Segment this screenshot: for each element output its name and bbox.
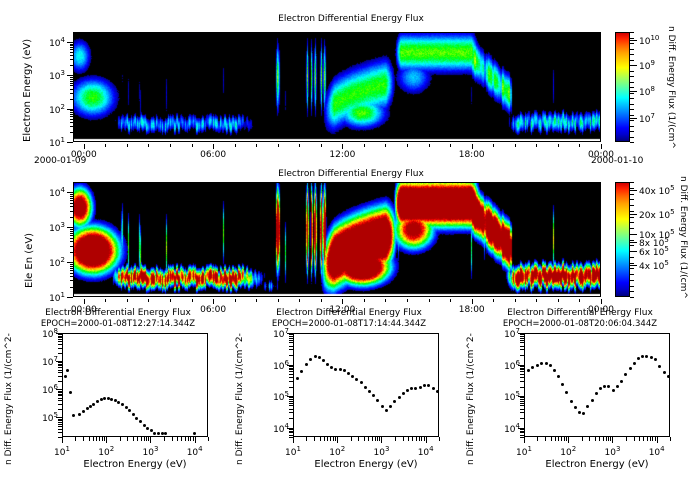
data-point xyxy=(86,407,89,410)
xtick-label: 103 xyxy=(596,445,628,458)
bottom-panel-plot[interactable] xyxy=(293,333,439,437)
middle-panel-yaxis: 101102103104 xyxy=(40,182,73,297)
colorbar-tick-label: 6x 105 xyxy=(639,245,669,258)
data-point xyxy=(334,368,337,371)
top-panel-yaxis: 101102103104 xyxy=(40,32,73,142)
xtick xyxy=(337,437,338,443)
ytick-label: 104 xyxy=(484,422,520,435)
xtick-label: 101 xyxy=(508,445,540,458)
data-point xyxy=(410,387,413,390)
spectrogram-ytick-label: 103 xyxy=(49,221,65,234)
data-point xyxy=(540,362,543,365)
xtick-label: 101 xyxy=(46,445,78,458)
data-point xyxy=(561,383,564,386)
spectrogram-ytick-label: 104 xyxy=(49,186,65,199)
xtick-label: 103 xyxy=(134,445,166,458)
xtick xyxy=(524,437,525,443)
data-point xyxy=(355,378,358,381)
ytick-label: 105 xyxy=(253,390,289,403)
middle-panel-ylabel: Ele En (eV) xyxy=(24,233,35,288)
data-point xyxy=(553,369,556,372)
bottom-panel-ylabel: n Diff. Energy Flux (1/(cm^2- xyxy=(466,333,476,465)
colorbar-tick xyxy=(630,40,637,41)
data-point xyxy=(125,406,128,409)
data-point xyxy=(193,432,196,435)
data-point xyxy=(121,403,124,406)
data-point xyxy=(578,411,581,414)
data-point xyxy=(531,366,534,369)
xtick xyxy=(381,437,382,443)
data-point xyxy=(436,390,439,393)
data-point xyxy=(64,375,67,378)
data-point xyxy=(591,399,594,402)
ytick-label: 107 xyxy=(484,327,520,340)
top-panel-title: Electron Differential Energy Flux xyxy=(186,14,516,24)
data-point xyxy=(96,400,99,403)
data-point xyxy=(595,392,598,395)
colorbar-tick xyxy=(630,190,637,191)
data-point xyxy=(339,368,342,371)
data-point xyxy=(360,381,363,384)
ytick-label: 105 xyxy=(22,411,58,424)
data-point xyxy=(150,429,153,432)
bottom-panel-ylabel: n Diff. Energy Flux (1/(cm^2- xyxy=(4,333,14,465)
xtick xyxy=(426,437,427,443)
spectrogram-xtick-label: 18:00 xyxy=(456,150,488,160)
data-point xyxy=(599,387,602,390)
xtick xyxy=(612,437,613,443)
top-colorbar-label-wrap: n Diff. Energy Flux (1/(cm^ xyxy=(676,26,697,36)
bottom-panel-title: Electron Differential Energy Flux xyxy=(6,308,230,318)
top-panel: Electron Differential Energy Flux Electr… xyxy=(0,0,697,160)
spectrogram-canvas xyxy=(74,33,600,141)
ytick-label: 106 xyxy=(22,383,58,396)
data-point xyxy=(305,363,308,366)
top-colorbar-ticks: 1071081091010 xyxy=(630,32,670,142)
data-point xyxy=(135,417,138,420)
data-point xyxy=(100,398,103,401)
data-point xyxy=(557,375,560,378)
data-point xyxy=(603,385,606,388)
xtick-label: 103 xyxy=(365,445,397,458)
colorbar-tick-label: 40x 105 xyxy=(639,184,675,197)
colorbar-tick-label: 109 xyxy=(639,59,655,72)
xtick-label: 102 xyxy=(321,445,353,458)
ytick-label: 105 xyxy=(484,390,520,403)
data-point xyxy=(314,355,317,358)
data-point xyxy=(650,356,653,359)
xtick xyxy=(195,437,196,443)
data-point xyxy=(620,380,623,383)
ytick-label: 108 xyxy=(22,327,58,340)
bottom-panel-title: Electron Differential Energy Flux xyxy=(237,308,461,318)
xtick-label: 102 xyxy=(90,445,122,458)
middle-colorbar-label-wrap: n Diff. Energy Flux (1/(cm^ xyxy=(688,176,697,186)
data-point xyxy=(427,384,430,387)
data-point xyxy=(318,356,321,359)
data-point xyxy=(565,391,568,394)
data-point xyxy=(607,385,610,388)
spectrogram-ytick-label: 102 xyxy=(49,256,65,269)
data-point xyxy=(143,424,146,427)
data-point xyxy=(146,427,149,430)
data-point xyxy=(633,362,636,365)
ytick-label: 106 xyxy=(484,359,520,372)
xtick-label: 104 xyxy=(179,445,211,458)
data-point xyxy=(406,389,409,392)
ytick-label: 107 xyxy=(22,355,58,368)
colorbar-tick-label: 1010 xyxy=(639,34,659,47)
colorbar-tick-label: 4x 105 xyxy=(639,259,669,272)
data-point xyxy=(164,432,167,435)
data-point xyxy=(343,369,346,372)
colorbar-tick xyxy=(630,242,637,243)
data-point xyxy=(351,375,354,378)
data-point xyxy=(612,389,615,392)
data-point xyxy=(110,398,113,401)
xtick xyxy=(293,437,294,443)
data-point xyxy=(663,371,666,374)
bottom-panel-title: Electron Differential Energy Flux xyxy=(468,308,692,318)
bottom-panel-xlabel: Electron Energy (eV) xyxy=(273,459,459,470)
data-point xyxy=(372,394,375,397)
data-point xyxy=(347,372,350,375)
data-point xyxy=(103,397,106,400)
xtick xyxy=(62,437,63,443)
ytick-label: 107 xyxy=(253,327,289,340)
data-point xyxy=(574,406,577,409)
data-point xyxy=(419,386,422,389)
data-point xyxy=(637,357,640,360)
data-point xyxy=(82,410,85,413)
data-point xyxy=(398,396,401,399)
spectrogram-xtick-label: 12:00 xyxy=(326,150,358,160)
data-point xyxy=(536,364,539,367)
spectrogram-ytick-label: 101 xyxy=(49,136,65,149)
data-point xyxy=(624,373,627,376)
data-point xyxy=(423,384,426,387)
data-point xyxy=(368,390,371,393)
data-point xyxy=(376,399,379,402)
data-point xyxy=(385,409,388,412)
data-point xyxy=(389,405,392,408)
top-colorbar[interactable] xyxy=(615,32,630,142)
middle-colorbar-ticks: 40x 10520x 10510x 1058x 1056x 1054x 105 xyxy=(630,182,685,297)
bottom-panel-xlabel: Electron Energy (eV) xyxy=(42,459,228,470)
bottom-panel-xlabel: Electron Energy (eV) xyxy=(504,459,690,470)
spectrogram-ytick-label: 104 xyxy=(49,36,65,49)
data-point xyxy=(629,367,632,370)
data-point xyxy=(153,432,156,435)
data-point xyxy=(586,405,589,408)
bottom-panel-plot[interactable] xyxy=(524,333,670,437)
bottom-panel-plot[interactable] xyxy=(62,333,208,437)
colorbar-tick-label: 107 xyxy=(639,112,655,125)
xtick xyxy=(568,437,569,443)
data-point xyxy=(645,355,648,358)
data-point xyxy=(658,365,661,368)
data-point xyxy=(616,385,619,388)
data-point xyxy=(161,432,164,435)
xtick xyxy=(657,437,658,443)
data-point xyxy=(527,369,530,372)
colorbar-tick xyxy=(630,265,637,266)
data-point xyxy=(402,392,405,395)
spectrogram-ytick-label: 103 xyxy=(49,69,65,82)
data-point xyxy=(69,391,72,394)
data-point xyxy=(92,403,95,406)
top-panel-ylabel: Electron Energy (eV) xyxy=(22,39,33,142)
data-point xyxy=(66,369,69,372)
middle-panel-title: Electron Differential Energy Flux xyxy=(186,169,516,179)
data-point xyxy=(570,400,573,403)
data-point xyxy=(432,387,435,390)
middle-spectrogram-plot[interactable] xyxy=(73,182,601,297)
data-point xyxy=(157,432,160,435)
data-point xyxy=(309,358,312,361)
bottom-panel-1: Electron Differential Energy FluxEPOCH=2… xyxy=(0,305,235,492)
data-point xyxy=(549,364,552,367)
colorbar-tick xyxy=(630,118,637,119)
data-point xyxy=(322,359,325,362)
data-point xyxy=(582,412,585,415)
xtick-label: 102 xyxy=(552,445,584,458)
ytick-label: 106 xyxy=(253,359,289,372)
data-point xyxy=(78,413,81,416)
data-point xyxy=(72,414,75,417)
colorbar-tick xyxy=(630,214,637,215)
xtick xyxy=(106,437,107,443)
data-point xyxy=(545,362,548,365)
spectrogram-canvas xyxy=(74,183,600,296)
data-point xyxy=(364,386,367,389)
bottom-panel-row: Electron Differential Energy FluxEPOCH=2… xyxy=(0,305,697,492)
top-spectrogram-plot[interactable] xyxy=(73,32,601,142)
xtick-label: 104 xyxy=(410,445,442,458)
xtick xyxy=(150,437,151,443)
spectrogram-ytick-label: 101 xyxy=(49,291,65,304)
data-point xyxy=(330,366,333,369)
xtick-label: 104 xyxy=(641,445,673,458)
bottom-panel-3: Electron Differential Energy FluxEPOCH=2… xyxy=(462,305,697,492)
data-point xyxy=(139,420,142,423)
data-point xyxy=(667,375,670,378)
data-point xyxy=(654,358,657,361)
colorbar-tick-label: 20x 105 xyxy=(639,208,675,221)
ytick-label: 104 xyxy=(253,422,289,435)
data-point xyxy=(381,405,384,408)
data-point xyxy=(107,397,110,400)
data-point xyxy=(414,387,417,390)
top-colorbar-label: n Diff. Energy Flux (1/(cm^ xyxy=(666,26,676,149)
data-point xyxy=(132,413,135,416)
data-point xyxy=(641,355,644,358)
colorbar-tick-label: 108 xyxy=(639,85,655,98)
middle-panel: Electron Differential Energy Flux Ele En… xyxy=(0,160,697,312)
middle-colorbar-label: n Diff. Energy Flux (1/(cm^ xyxy=(678,176,688,299)
data-point xyxy=(326,363,329,366)
data-point xyxy=(128,409,131,412)
spectrogram-ytick-label: 102 xyxy=(49,103,65,116)
data-point xyxy=(296,377,299,380)
xtick-label: 101 xyxy=(277,445,309,458)
middle-colorbar[interactable] xyxy=(615,182,630,297)
data-point xyxy=(393,400,396,403)
data-point xyxy=(300,370,303,373)
data-point xyxy=(117,401,120,404)
spectrogram-xtick-label: 06:00 xyxy=(197,150,229,160)
bottom-panel-ylabel: n Diff. Energy Flux (1/(cm^2- xyxy=(235,333,245,465)
data-point xyxy=(114,399,117,402)
bottom-panel-2: Electron Differential Energy FluxEPOCH=2… xyxy=(231,305,466,492)
